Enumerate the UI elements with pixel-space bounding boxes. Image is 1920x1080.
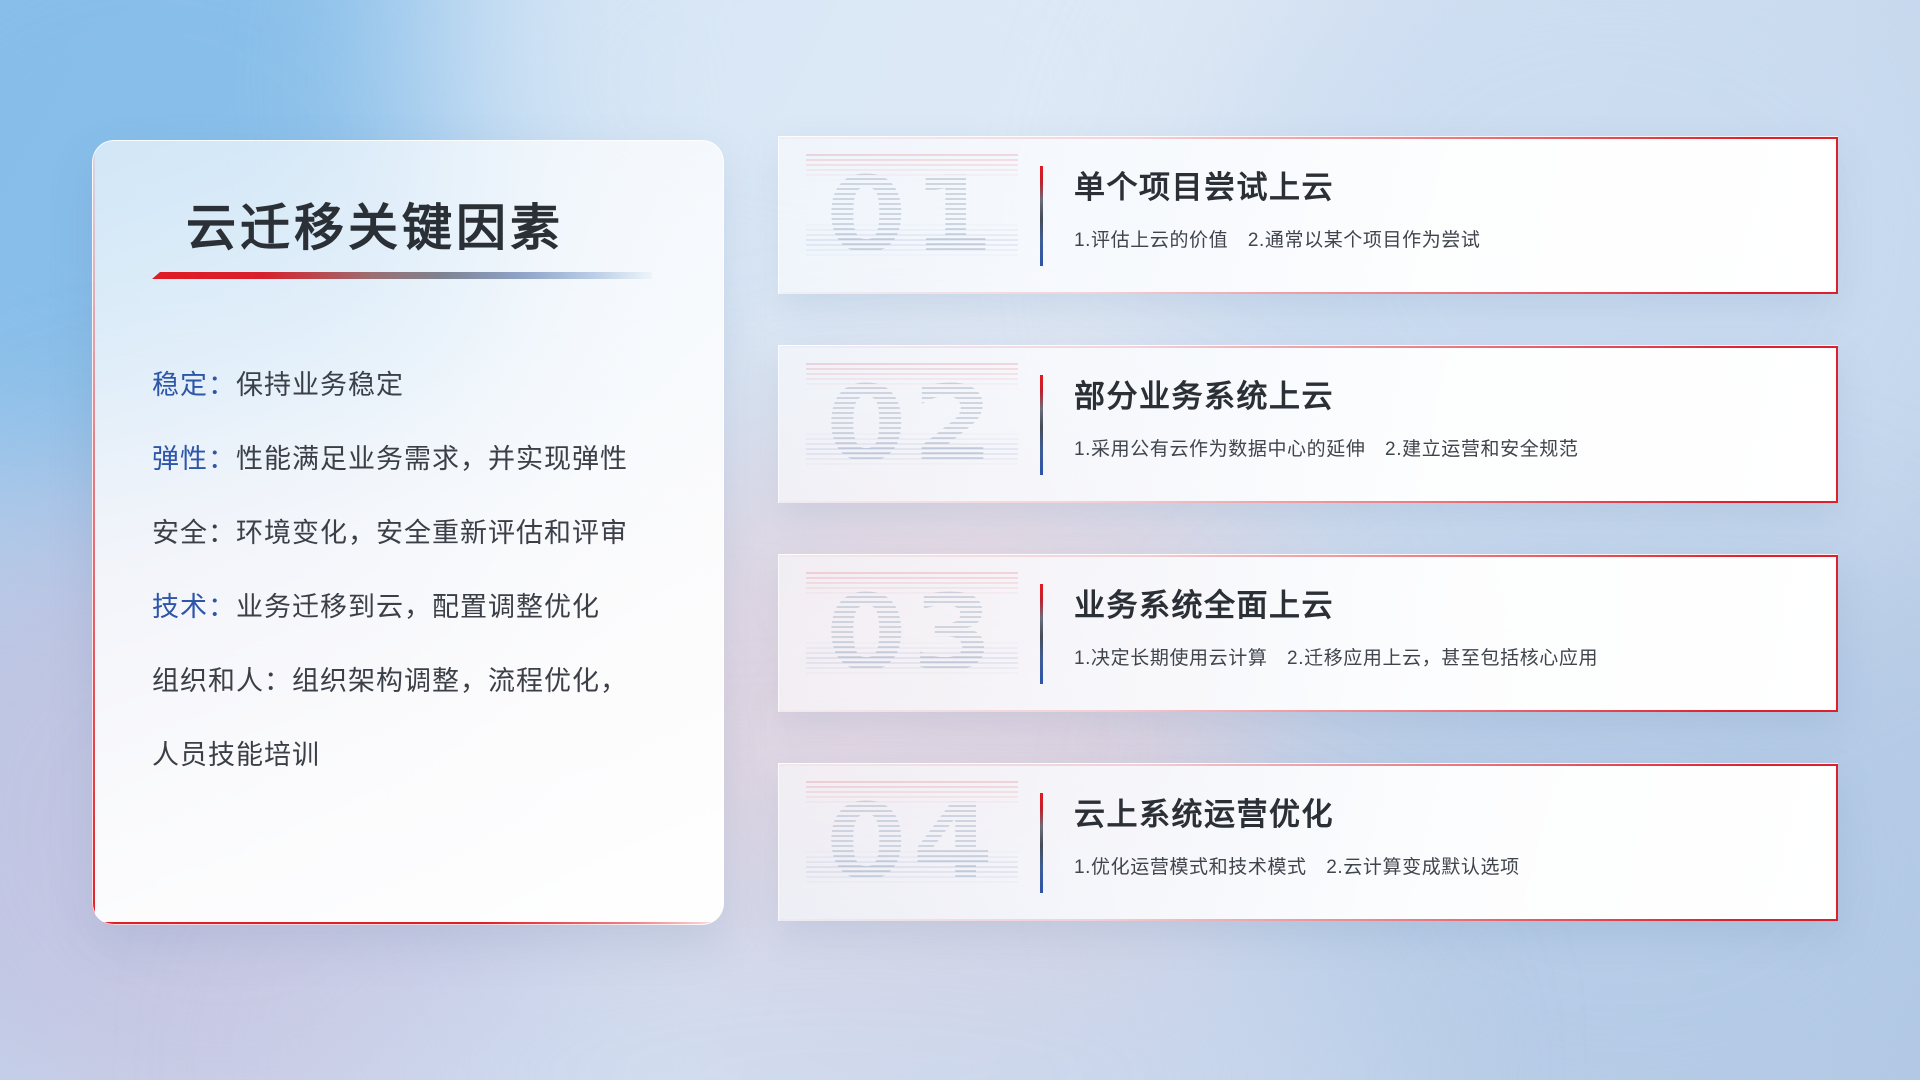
stage-number-text: 01 [825, 163, 998, 267]
panel-accent-edge-bottom [92, 922, 724, 925]
card-accent-edge-top [778, 136, 1838, 139]
list-item-text: 保持业务稳定 [236, 370, 404, 400]
list-item-label: 组织和人： [152, 666, 292, 696]
list-item-text: 性能满足业务需求，并实现弹性 [236, 444, 628, 474]
card-body: 部分业务系统上云 1.采用公有云作为数据中心的延伸 2.建立运营和安全规范 [1074, 371, 1814, 461]
card-subtitle: 1.采用公有云作为数据中心的延伸 2.建立运营和安全规范 [1074, 434, 1814, 461]
card-body: 云上系统运营优化 1.优化运营模式和技术模式 2.云计算变成默认选项 [1074, 789, 1814, 879]
title-underline-rule [152, 272, 652, 279]
stage-number-badge: 04 [806, 781, 1018, 903]
card-accent-edge-top [778, 554, 1838, 557]
card-accent-edge-top [778, 345, 1838, 348]
list-item: 人员技能培训 [152, 718, 690, 792]
stage-card-03[interactable]: 03 业务系统全面上云 1.决定长期使用云计算 2.迁移应用上云，甚至包括核心应… [778, 554, 1838, 712]
card-accent-edge-right [1836, 554, 1839, 712]
list-item: 安全：环境变化，安全重新评估和评审 [152, 496, 690, 570]
card-divider-rule [1040, 793, 1043, 893]
list-item-text: 人员技能培训 [152, 740, 320, 770]
stage-card-01[interactable]: 01 单个项目尝试上云 1.评估上云的价值 2.通常以某个项目作为尝试 [778, 136, 1838, 294]
list-item-label: 弹性： [152, 444, 236, 474]
card-body: 业务系统全面上云 1.决定长期使用云计算 2.迁移应用上云，甚至包括核心应用 [1074, 580, 1814, 670]
card-subtitle: 1.评估上云的价值 2.通常以某个项目作为尝试 [1074, 225, 1814, 252]
stage-number-badge: 02 [806, 363, 1018, 485]
card-title: 云上系统运营优化 [1074, 789, 1814, 834]
list-item-label: 技术： [152, 592, 236, 622]
stage-number-text: 04 [825, 790, 998, 894]
list-item-label: 稳定： [152, 370, 236, 400]
stage-number-badge: 01 [806, 154, 1018, 276]
card-subtitle: 1.决定长期使用云计算 2.迁移应用上云，甚至包括核心应用 [1074, 643, 1814, 670]
list-item: 稳定：保持业务稳定 [152, 348, 690, 422]
card-accent-edge-bottom [778, 919, 1838, 922]
stage-card-04[interactable]: 04 云上系统运营优化 1.优化运营模式和技术模式 2.云计算变成默认选项 [778, 763, 1838, 921]
key-factors-list: 稳定：保持业务稳定 弹性：性能满足业务需求，并实现弹性 安全：环境变化，安全重新… [152, 348, 690, 792]
stage-card-02[interactable]: 02 部分业务系统上云 1.采用公有云作为数据中心的延伸 2.建立运营和安全规范 [778, 345, 1838, 503]
card-accent-edge-right [1836, 345, 1839, 503]
card-subtitle: 1.优化运营模式和技术模式 2.云计算变成默认选项 [1074, 852, 1814, 879]
list-item-text: 组织架构调整，流程优化， [292, 666, 628, 696]
stage-number-text: 03 [825, 581, 998, 685]
card-divider-rule [1040, 375, 1043, 475]
list-item: 组织和人：组织架构调整，流程优化， [152, 644, 690, 718]
card-accent-edge-bottom [778, 501, 1838, 504]
migration-stages-list: 01 单个项目尝试上云 1.评估上云的价值 2.通常以某个项目作为尝试 02 部… [778, 136, 1838, 972]
list-item-label: 安全： [152, 518, 236, 548]
list-item-text: 环境变化，安全重新评估和评审 [236, 518, 628, 548]
panel-accent-edge-left [92, 140, 95, 925]
list-item: 技术：业务迁移到云，配置调整优化 [152, 570, 690, 644]
card-accent-edge-right [1836, 763, 1839, 921]
key-factors-panel: 云迁移关键因素 稳定：保持业务稳定 弹性：性能满足业务需求，并实现弹性 安全：环… [92, 140, 724, 925]
card-accent-edge-bottom [778, 292, 1838, 295]
card-title: 部分业务系统上云 [1074, 371, 1814, 416]
list-item-text: 业务迁移到云，配置调整优化 [236, 592, 600, 622]
stage-number-badge: 03 [806, 572, 1018, 694]
card-title: 单个项目尝试上云 [1074, 162, 1814, 207]
card-accent-edge-bottom [778, 710, 1838, 713]
card-divider-rule [1040, 166, 1043, 266]
card-accent-edge-top [778, 763, 1838, 766]
card-accent-edge-right [1836, 136, 1839, 294]
card-divider-rule [1040, 584, 1043, 684]
list-item: 弹性：性能满足业务需求，并实现弹性 [152, 422, 690, 496]
page-title: 云迁移关键因素 [186, 188, 564, 260]
card-title: 业务系统全面上云 [1074, 580, 1814, 625]
stage-number-text: 02 [825, 372, 998, 476]
card-body: 单个项目尝试上云 1.评估上云的价值 2.通常以某个项目作为尝试 [1074, 162, 1814, 252]
slide-canvas: 云迁移关键因素 稳定：保持业务稳定 弹性：性能满足业务需求，并实现弹性 安全：环… [0, 0, 1920, 1080]
